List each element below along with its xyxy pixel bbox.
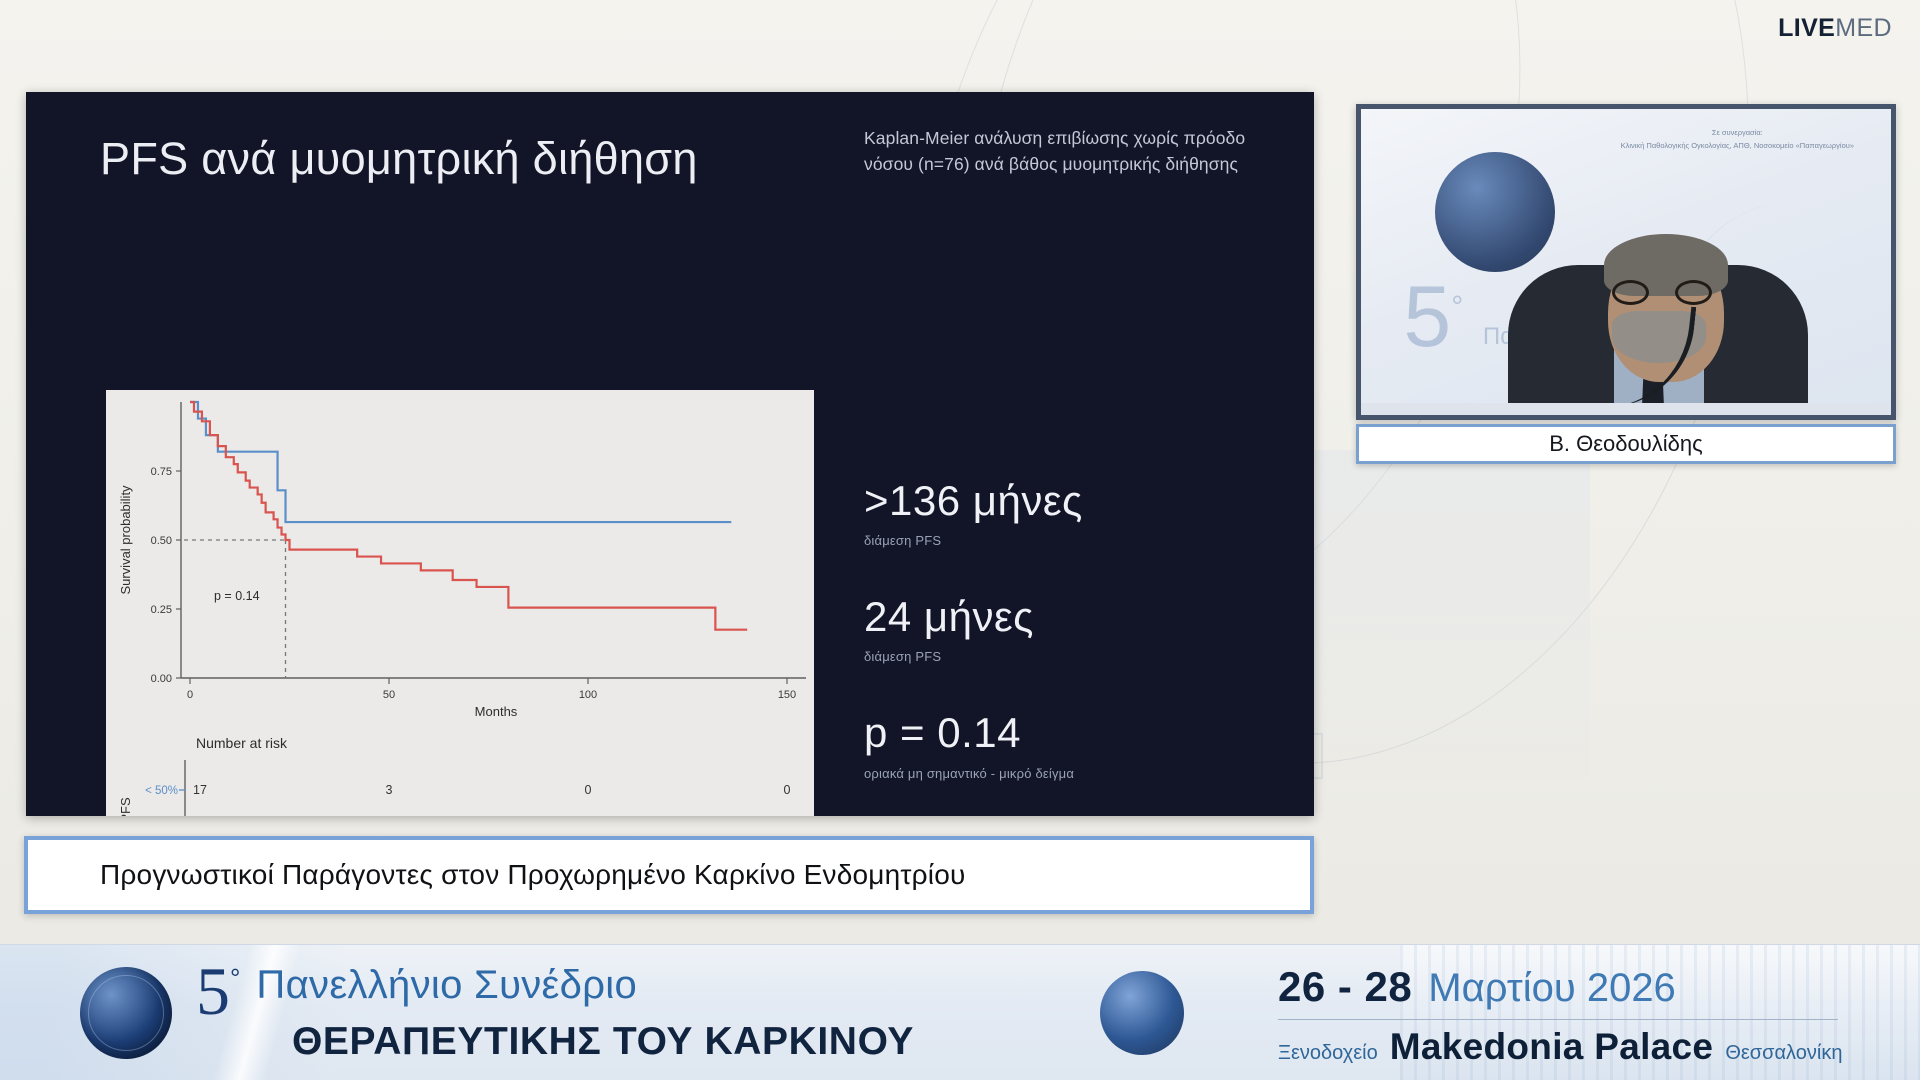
risk-low-t150: 0: [784, 783, 791, 797]
video-backdrop-caption-line2: Κλινική Παθολογικής Ογκολογίας, ΑΠΘ, Νοσ…: [1615, 140, 1859, 153]
video-backdrop-edition-number: 5°: [1403, 268, 1463, 367]
footer-divider: [1278, 1019, 1838, 1020]
video-edition-degree: °: [1451, 290, 1463, 323]
footer-globe-icon: [80, 967, 172, 1059]
conference-footer: 5 ° Πανελλήνιο Συνέδριο ΘΕΡΑΠΕΥΤΙΚΗΣ ΤΟΥ…: [0, 944, 1920, 1080]
footer-edition-number: 5: [196, 959, 230, 1024]
stat-label: διάμεση PFS: [864, 533, 1294, 548]
podium-desk: [1361, 403, 1891, 415]
stat-label: οριακά μη σημαντικό - μικρό δείγμα: [864, 766, 1294, 781]
footer-dates: 26 - 28: [1278, 963, 1412, 1011]
km-ytick-1: 0.25: [151, 604, 172, 616]
km-ylabel: Survival probability: [118, 485, 133, 595]
slide-description: Kaplan-Meier ανάλυση επιβίωσης χωρίς πρό…: [864, 126, 1284, 178]
logo-live-text: LIVE: [1778, 14, 1835, 42]
stat-label: διάμεση PFS: [864, 649, 1294, 664]
km-xtick-3: 150: [778, 689, 796, 701]
risk-row-label-low: < 50%: [145, 785, 178, 797]
glasses-right-lens: [1675, 280, 1712, 305]
lecture-title: Προγνωστικοί Παράγοντες στον Προχωρημένο…: [28, 840, 1310, 910]
slide-statistics: >136 μήνες διάμεση PFS 24 μήνες διάμεση …: [864, 478, 1294, 816]
stat-item-pvalue: p = 0.14 οριακά μη σημαντικό - μικρό δεί…: [864, 710, 1294, 780]
lecture-title-bar: Προγνωστικοί Παράγοντες στον Προχωρημένο…: [24, 836, 1314, 914]
risk-low-t50: 3: [386, 783, 393, 797]
km-xtick-0: 0: [187, 689, 193, 701]
risk-low-t0: 17: [193, 783, 207, 797]
stat-value: 24 μήνες: [864, 594, 1294, 640]
km-ytick-3: 0.75: [151, 466, 172, 478]
stat-value: >136 μήνες: [864, 478, 1294, 524]
risk-table-group-label: PFS: [118, 797, 133, 816]
footer-month-year: Μαρτίου 2026: [1428, 966, 1676, 1011]
stat-item-median-high: 24 μήνες διάμεση PFS: [864, 594, 1294, 664]
video-backdrop-caption-line1: Σε συνεργασία:: [1615, 127, 1859, 140]
footer-venue-prefix: Ξενοδοχείο: [1278, 1042, 1378, 1065]
km-xtick-1: 50: [383, 689, 395, 701]
footer-congress-block: 5 ° Πανελλήνιο Συνέδριο ΘΕΡΑΠΕΥΤΙΚΗΣ ΤΟΥ…: [196, 959, 914, 1064]
stat-item-median-low: >136 μήνες διάμεση PFS: [864, 478, 1294, 548]
kaplan-meier-chart: 0.00 0.25 0.50 0.75 Survival probability…: [106, 390, 814, 816]
speaker-name-plate: Β. Θεοδουλίδης: [1356, 424, 1896, 464]
footer-congress-line1: Πανελλήνιο Συνέδριο: [256, 963, 637, 1008]
km-plot-svg: 0.00 0.25 0.50 0.75 Survival probability…: [106, 390, 814, 816]
km-ytick-0: 0.00: [151, 673, 172, 685]
livemed-logo: LIVEMED: [1778, 16, 1892, 41]
km-xtick-2: 100: [579, 689, 597, 701]
video-backdrop-caption: Σε συνεργασία: Κλινική Παθολογικής Ογκολ…: [1615, 127, 1859, 153]
risk-low-t100: 0: [585, 783, 592, 797]
footer-congress-line2: ΘΕΡΑΠΕΥΤΙΚΗΣ ΤΟΥ ΚΑΡΚΙΝΟΥ: [292, 1020, 914, 1064]
footer-venue: Makedonia Palace: [1390, 1026, 1714, 1068]
video-edition-digit: 5: [1403, 269, 1451, 365]
logo-med-text: MED: [1835, 14, 1892, 42]
km-pvalue-annotation: p = 0.14: [214, 589, 260, 603]
slide-title: PFS ανά μυομητρική διήθηση: [100, 130, 720, 188]
footer-city: Θεσσαλονίκη: [1725, 1042, 1842, 1065]
stream-page: LIVEMED PFS ανά μυομητρική διήθηση Kapla…: [0, 0, 1920, 1080]
km-ytick-2: 0.50: [151, 535, 172, 547]
speaker-video-frame: Σε συνεργασία: Κλινική Παθολογικής Ογκολ…: [1361, 109, 1891, 415]
presentation-slide[interactable]: PFS ανά μυομητρική διήθηση Kaplan-Meier …: [26, 92, 1314, 816]
video-backdrop-globe: [1435, 152, 1555, 272]
stat-value: p = 0.14: [864, 710, 1294, 756]
footer-event-details: 26 - 28 Μαρτίου 2026 Ξενοδοχείο Makedoni…: [1278, 963, 1842, 1068]
footer-globe-secondary-icon: [1100, 971, 1184, 1055]
footer-edition-degree: °: [230, 963, 240, 994]
risk-table-title: Number at risk: [196, 735, 288, 751]
speaker-video[interactable]: Σε συνεργασία: Κλινική Παθολογικής Ογκολ…: [1356, 104, 1896, 420]
km-xlabel: Months: [475, 704, 518, 719]
speaker-name: Β. Θεοδουλίδης: [1359, 427, 1893, 461]
